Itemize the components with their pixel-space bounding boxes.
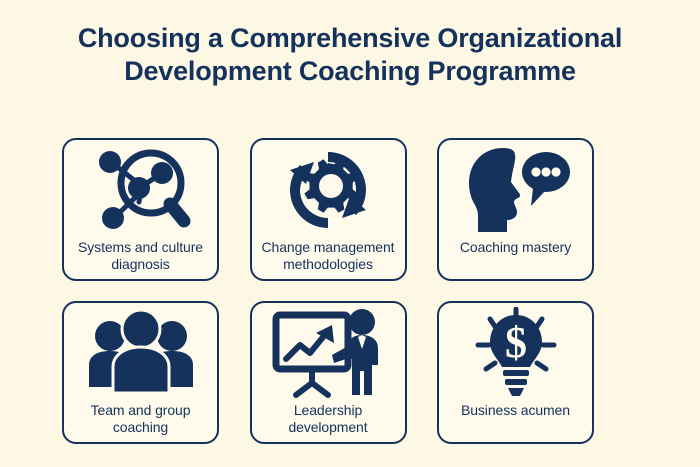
gear-refresh-arrows-icon <box>252 142 405 238</box>
card-change-management-methodologies[interactable]: Change management methodologies <box>250 138 407 281</box>
svg-text:$: $ <box>505 318 527 367</box>
card-team-and-group-coaching[interactable]: Team and group coaching <box>62 301 219 444</box>
infographic-page: Choosing a Comprehensive Organizational … <box>0 0 700 467</box>
presentation-chart-person-icon <box>252 305 405 401</box>
cards-grid: Systems and culture diagnosis <box>62 138 594 444</box>
card-label: Team and group coaching <box>64 402 217 435</box>
card-label: Change management methodologies <box>252 239 405 272</box>
card-label: Leadership development <box>252 402 405 435</box>
head-speech-bubble-icon <box>439 142 592 238</box>
card-coaching-mastery[interactable]: Coaching mastery <box>437 138 594 281</box>
card-leadership-development[interactable]: Leadership development <box>250 301 407 444</box>
people-group-icon <box>64 305 217 401</box>
card-label: Coaching mastery <box>454 239 577 256</box>
card-label: Systems and culture diagnosis <box>64 239 217 272</box>
page-title: Choosing a Comprehensive Organizational … <box>40 22 660 88</box>
card-business-acumen[interactable]: $ Business acumen <box>437 301 594 444</box>
card-systems-and-culture-diagnosis[interactable]: Systems and culture diagnosis <box>62 138 219 281</box>
network-magnifier-icon <box>64 142 217 238</box>
card-label: Business acumen <box>455 402 576 419</box>
lightbulb-dollar-icon: $ <box>439 305 592 401</box>
